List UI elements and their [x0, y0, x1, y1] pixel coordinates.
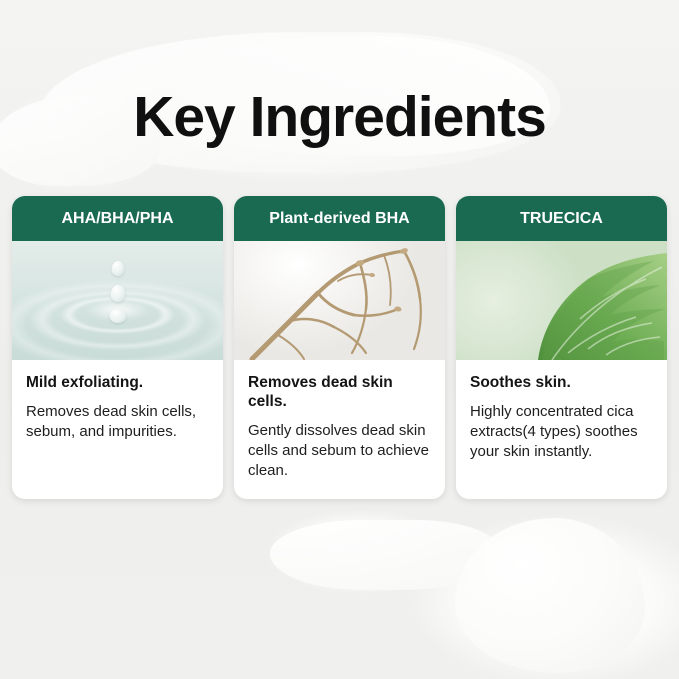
twig-branches-icon — [234, 241, 445, 360]
page-title: Key Ingredients — [0, 84, 679, 150]
card-header-title: AHA/BHA/PHA — [12, 196, 223, 241]
card-description-text: Gently dissolves dead skin cells and seb… — [248, 421, 431, 481]
water-droplet-icon — [110, 285, 125, 302]
card-lead-text: Soothes skin. — [470, 374, 653, 393]
ingredient-card: AHA/BHA/PHA Mild exfoliating. Removes de… — [12, 196, 223, 499]
cream-blob-bottom-right — [455, 518, 645, 673]
card-body: Removes dead skin cells. Gently dissolve… — [234, 360, 445, 499]
ingredient-card-list: AHA/BHA/PHA Mild exfoliating. Removes de… — [12, 196, 667, 499]
green-leaf-photo — [456, 241, 667, 360]
card-body: Soothes skin. Highly concentrated cica e… — [456, 360, 667, 499]
water-droplet-icon — [111, 261, 124, 276]
card-lead-text: Removes dead skin cells. — [248, 374, 431, 412]
card-body: Mild exfoliating. Removes dead skin cell… — [12, 360, 223, 499]
leaf-icon — [456, 241, 667, 360]
water-ripple-photo — [12, 241, 223, 360]
card-description-text: Removes dead skin cells, sebum, and impu… — [26, 402, 209, 442]
card-header-title: TRUECICA — [456, 196, 667, 241]
cream-smear-bottom — [270, 520, 500, 590]
ingredient-card: TRUECICA — [456, 196, 667, 499]
ingredient-card: Plant-derived BHA — [234, 196, 445, 499]
water-droplet-icon — [109, 309, 126, 323]
card-lead-text: Mild exfoliating. — [26, 374, 209, 393]
willow-twigs-photo — [234, 241, 445, 360]
poster: Key Ingredients AHA/BHA/PHA Mild exfolia… — [0, 0, 679, 679]
card-header-title: Plant-derived BHA — [234, 196, 445, 241]
card-description-text: Highly concentrated cica extracts(4 type… — [470, 402, 653, 462]
